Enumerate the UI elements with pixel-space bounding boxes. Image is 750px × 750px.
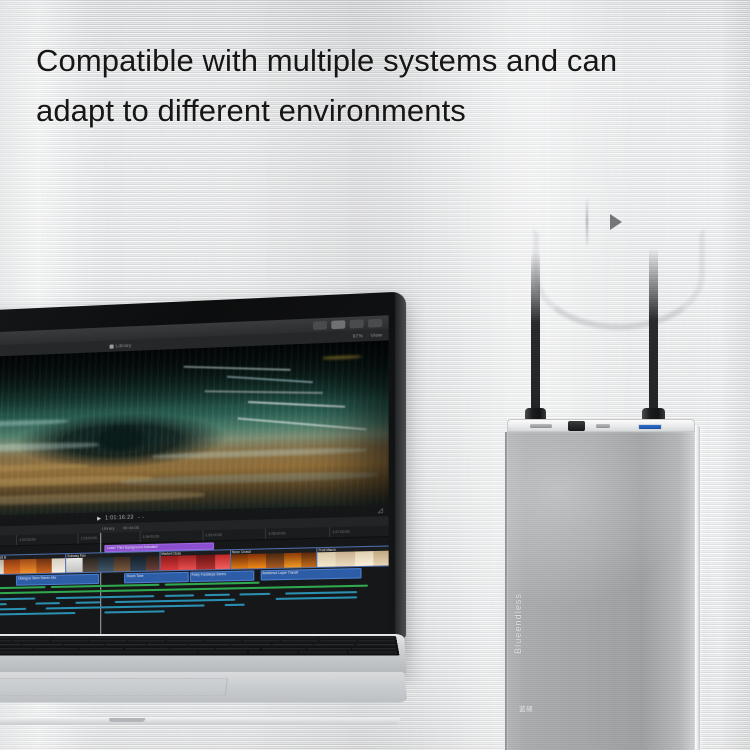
expand-icon[interactable]: ◿ [378,507,383,514]
cable-loop-ghost [533,228,705,330]
waveform-bar[interactable] [275,596,357,599]
zoom-level[interactable]: 97% [353,333,363,339]
library-icon [109,344,113,348]
ruler-tick: 1:04:00:00 [139,531,159,542]
waveform-bar[interactable] [46,604,205,609]
key[interactable] [0,644,21,647]
timeline-audio-clip[interactable]: Foley Footsteps Series [189,570,254,582]
editor-timeline[interactable]: ●●● 1:00:00:00 1:01:00:00 1:02:00:00 1:0… [0,526,389,643]
clip-thumbnails [231,552,320,569]
video-frame-tunnel [0,340,389,530]
ghost-line [586,197,588,245]
ruler-tick: 1:02:00:00 [16,535,35,546]
keyboard[interactable] [0,636,400,656]
toolbar-button-4[interactable] [368,318,382,327]
keyboard-row[interactable] [0,652,398,655]
play-icon[interactable] [97,516,101,520]
waveform-bar[interactable] [105,610,165,613]
clip-thumbnails [0,558,68,574]
trackpad[interactable] [0,678,228,696]
laptop-screen: Library 97% View [0,315,389,643]
clip-thumbnails [66,556,162,572]
key[interactable] [13,637,51,640]
key[interactable] [166,640,204,643]
waveform-bar[interactable] [164,594,194,596]
product-banner: Compatible with multiple systems and can… [0,0,750,750]
library-tab-label[interactable]: Library [116,343,132,349]
key[interactable] [0,640,12,643]
laptop-deck [0,632,410,728]
waveform-bar[interactable] [240,593,270,595]
key[interactable] [146,644,187,647]
waveform-bar[interactable] [115,599,235,603]
waveform-bar[interactable] [75,601,100,603]
key[interactable] [356,644,397,647]
front-notch [109,718,146,722]
key[interactable] [0,637,14,640]
key[interactable] [282,637,319,640]
key[interactable] [320,640,357,643]
usb-cable [649,248,658,412]
key[interactable] [170,648,215,651]
front-lip [0,718,401,725]
key[interactable] [358,640,395,643]
waveform-bar[interactable] [0,597,36,601]
key[interactable] [204,640,242,643]
key[interactable] [243,640,280,643]
ruler-tick: 1:07:00:00 [329,527,350,538]
waveform-bar[interactable] [36,602,61,604]
waveform-bar[interactable] [0,603,6,606]
toolbar-button-2[interactable] [331,320,345,329]
key[interactable] [88,640,126,643]
page-title: Compatible with multiple systems and can… [36,36,736,136]
key[interactable] [198,652,247,655]
key[interactable] [314,644,354,647]
timeline-tracks[interactable]: 1:00:00:00 1:01:00:00 1:02:00:00 1:03:00… [0,526,389,643]
toolbar-button-3[interactable] [350,319,364,328]
keyboard-row[interactable] [0,648,397,651]
key[interactable] [243,637,280,640]
lid-edge [395,291,406,639]
viewer-timecode: 1:01:16:23 [105,514,134,521]
key[interactable] [272,644,312,647]
key[interactable] [105,644,146,647]
key[interactable] [216,648,261,651]
timeline-audio-clip[interactable]: Ambience Layer Transit [260,568,362,581]
key[interactable] [21,644,63,647]
video-viewer: 1:01:16:23 - - ◿ [0,340,389,530]
waveform-bar[interactable] [286,591,358,594]
key[interactable] [188,644,229,647]
toolbar-button-1[interactable] [313,321,327,330]
timeline-video-clip[interactable]: Market Close [159,549,234,571]
waveform-bar[interactable] [0,612,75,615]
external-hdd-enclosure: Blueendless 蓝硕 [505,419,701,750]
key[interactable] [50,640,89,643]
timeline-audio-clip[interactable]: Room Tone [124,572,188,584]
headline-line-2: adapt to different environments [36,86,736,136]
key[interactable] [33,648,79,651]
key[interactable] [63,644,105,647]
ruler-tick: 1:06:00:00 [265,528,285,539]
key[interactable] [11,640,50,643]
key[interactable] [128,637,166,640]
key[interactable] [78,648,123,651]
laptop-lid: Library 97% View [0,291,406,648]
play-triangle-icon [610,214,622,230]
brand-logo-cn: 蓝硕 [519,703,533,713]
aux-slot [596,424,610,428]
ruler-tick: 1:05:00:00 [202,530,222,541]
key[interactable] [358,637,395,640]
viewer-duration: - - [138,514,144,520]
key[interactable] [349,652,398,655]
waveform-bar[interactable] [0,608,26,612]
view-menu[interactable]: View [371,332,382,338]
key[interactable] [127,640,165,643]
key[interactable] [352,648,397,651]
timeline-video-clip[interactable]: City Night B [0,553,69,575]
keyboard-row[interactable] [0,644,396,647]
usb-3-port[interactable] [638,424,662,430]
brand-logo: Blueendless [513,593,523,654]
key[interactable] [320,637,357,640]
timeline-video-clip[interactable]: Fruit Macro [316,545,388,568]
hdd-body: Blueendless 蓝硕 [507,432,695,750]
space-key[interactable] [0,652,197,655]
key[interactable] [281,640,318,643]
clip-thumbnails [317,551,388,567]
key[interactable] [299,652,348,655]
key[interactable] [52,637,90,640]
key[interactable] [307,648,351,651]
key[interactable] [205,637,242,640]
key[interactable] [261,648,305,651]
waveform-bar[interactable] [225,604,245,606]
waveform-bar[interactable] [55,595,154,599]
keyboard-row[interactable] [0,640,396,643]
led-slot [530,424,552,428]
key[interactable] [124,648,169,651]
timeline-video-clip[interactable]: Subway Pan [65,551,163,574]
laptop-device: Library 97% View [0,316,400,736]
clip-thumbnails [160,554,232,570]
cable-group [497,186,727,436]
keyboard-row[interactable] [0,637,395,640]
key[interactable] [0,648,33,651]
key[interactable] [90,637,128,640]
timeline-audio-clip[interactable]: Dialogue Stem Stereo Mix [16,574,99,586]
timeline-video-clip[interactable]: Neon Crowd [230,547,321,570]
hdd-top-panel [507,419,695,432]
ruler-tick: 1:03:00:00 [77,533,97,544]
key[interactable] [230,644,271,647]
power-cable [531,252,540,412]
headline-line-1: Compatible with multiple systems and can [36,36,736,86]
waveform-bar[interactable] [204,594,229,596]
meta-range: 00:04:05 [123,525,139,531]
key[interactable] [167,637,205,640]
micro-usb-port[interactable] [568,421,585,431]
meta-project: Library [102,525,115,530]
key[interactable] [248,652,297,655]
